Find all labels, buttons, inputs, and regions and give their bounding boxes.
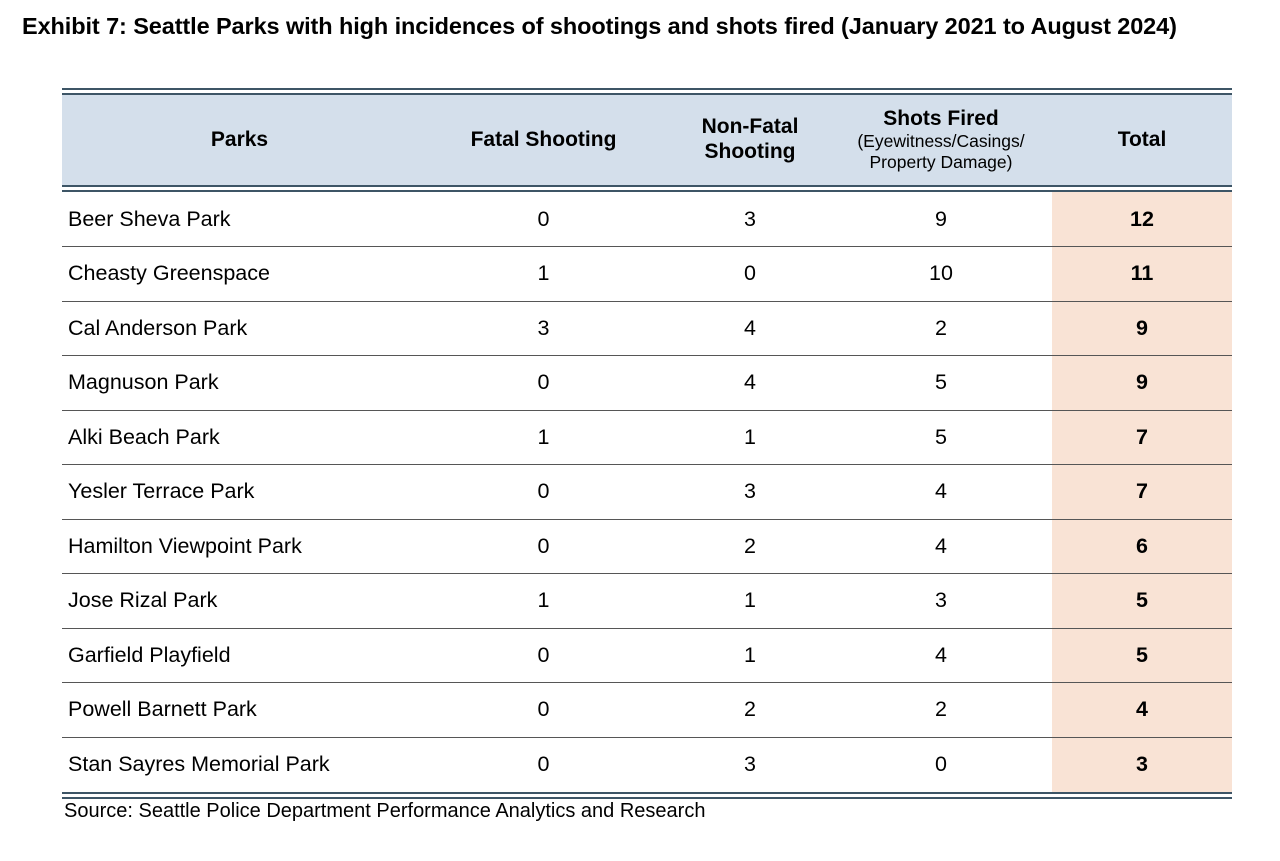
cell-non-fatal-shooting: 1	[670, 410, 830, 465]
table-row: Cal Anderson Park3429	[62, 301, 1232, 356]
cell-fatal-shooting: 1	[417, 410, 670, 465]
column-header-shots-fired: Shots Fired (Eyewitness/Casings/ Propert…	[830, 95, 1052, 185]
cell-shots-fired: 0	[830, 737, 1052, 792]
table-row: Alki Beach Park1157	[62, 410, 1232, 465]
column-header-non-fatal-line1: Non-Fatal	[674, 115, 826, 140]
column-header-total-label: Total	[1056, 128, 1228, 153]
cell-total: 12	[1052, 192, 1232, 247]
table-row: Stan Sayres Memorial Park0303	[62, 737, 1232, 792]
cell-fatal-shooting: 0	[417, 465, 670, 520]
table-row: Yesler Terrace Park0347	[62, 465, 1232, 520]
cell-non-fatal-shooting: 4	[670, 301, 830, 356]
cell-shots-fired: 5	[830, 356, 1052, 411]
cell-non-fatal-shooting: 1	[670, 628, 830, 683]
cell-park-name: Beer Sheva Park	[62, 192, 417, 247]
exhibit-page: Exhibit 7: Seattle Parks with high incid…	[0, 0, 1280, 861]
column-header-shots-fired-label: Shots Fired	[834, 107, 1048, 132]
cell-park-name: Cal Anderson Park	[62, 301, 417, 356]
cell-park-name: Alki Beach Park	[62, 410, 417, 465]
cell-fatal-shooting: 0	[417, 356, 670, 411]
cell-total: 7	[1052, 465, 1232, 520]
cell-park-name: Yesler Terrace Park	[62, 465, 417, 520]
cell-total: 5	[1052, 628, 1232, 683]
table-row: Magnuson Park0459	[62, 356, 1232, 411]
cell-fatal-shooting: 0	[417, 737, 670, 792]
cell-non-fatal-shooting: 1	[670, 574, 830, 629]
exhibit-table-container: Parks Fatal Shooting Non-Fatal Shooting …	[62, 88, 1232, 799]
cell-shots-fired: 3	[830, 574, 1052, 629]
cell-shots-fired: 4	[830, 628, 1052, 683]
source-note: Source: Seattle Police Department Perfor…	[64, 800, 705, 823]
cell-park-name: Powell Barnett Park	[62, 683, 417, 738]
cell-fatal-shooting: 3	[417, 301, 670, 356]
cell-park-name: Cheasty Greenspace	[62, 247, 417, 302]
header-bottom-rule	[62, 185, 1232, 192]
cell-total: 9	[1052, 301, 1232, 356]
table-body: Beer Sheva Park03912Cheasty Greenspace10…	[62, 192, 1232, 792]
cell-shots-fired: 9	[830, 192, 1052, 247]
table-bottom-rule	[62, 792, 1232, 799]
cell-fatal-shooting: 1	[417, 247, 670, 302]
column-header-parks: Parks	[62, 95, 417, 185]
table-row: Jose Rizal Park1135	[62, 574, 1232, 629]
cell-total: 11	[1052, 247, 1232, 302]
column-header-total: Total	[1052, 95, 1232, 185]
cell-non-fatal-shooting: 0	[670, 247, 830, 302]
table-header-row: Parks Fatal Shooting Non-Fatal Shooting …	[62, 95, 1232, 185]
cell-park-name: Stan Sayres Memorial Park	[62, 737, 417, 792]
cell-total: 9	[1052, 356, 1232, 411]
shootings-by-park-table: Parks Fatal Shooting Non-Fatal Shooting …	[62, 95, 1232, 185]
cell-non-fatal-shooting: 3	[670, 465, 830, 520]
cell-non-fatal-shooting: 3	[670, 737, 830, 792]
cell-total: 5	[1052, 574, 1232, 629]
cell-fatal-shooting: 0	[417, 683, 670, 738]
column-header-shots-fired-sub-line2: Property Damage)	[834, 152, 1048, 173]
table-row: Cheasty Greenspace101011	[62, 247, 1232, 302]
cell-shots-fired: 2	[830, 301, 1052, 356]
cell-total: 6	[1052, 519, 1232, 574]
cell-fatal-shooting: 1	[417, 574, 670, 629]
cell-shots-fired: 2	[830, 683, 1052, 738]
cell-total: 4	[1052, 683, 1232, 738]
cell-non-fatal-shooting: 2	[670, 519, 830, 574]
cell-fatal-shooting: 0	[417, 192, 670, 247]
cell-shots-fired: 10	[830, 247, 1052, 302]
shootings-by-park-table-body: Beer Sheva Park03912Cheasty Greenspace10…	[62, 192, 1232, 792]
column-header-non-fatal-shooting: Non-Fatal Shooting	[670, 95, 830, 185]
column-header-parks-label: Parks	[66, 128, 413, 153]
cell-shots-fired: 5	[830, 410, 1052, 465]
table-top-rule	[62, 88, 1232, 95]
page-title: Exhibit 7: Seattle Parks with high incid…	[22, 10, 1252, 43]
cell-park-name: Hamilton Viewpoint Park	[62, 519, 417, 574]
cell-park-name: Garfield Playfield	[62, 628, 417, 683]
table-row: Hamilton Viewpoint Park0246	[62, 519, 1232, 574]
cell-fatal-shooting: 0	[417, 519, 670, 574]
column-header-fatal-shooting-label: Fatal Shooting	[421, 128, 666, 153]
cell-total: 7	[1052, 410, 1232, 465]
cell-non-fatal-shooting: 2	[670, 683, 830, 738]
table-row: Garfield Playfield0145	[62, 628, 1232, 683]
cell-non-fatal-shooting: 3	[670, 192, 830, 247]
table-header: Parks Fatal Shooting Non-Fatal Shooting …	[62, 95, 1232, 185]
cell-fatal-shooting: 0	[417, 628, 670, 683]
cell-shots-fired: 4	[830, 465, 1052, 520]
cell-shots-fired: 4	[830, 519, 1052, 574]
column-header-non-fatal-line2: Shooting	[674, 140, 826, 165]
column-header-shots-fired-sub-line1: (Eyewitness/Casings/	[834, 131, 1048, 152]
cell-park-name: Jose Rizal Park	[62, 574, 417, 629]
table-row: Powell Barnett Park0224	[62, 683, 1232, 738]
cell-park-name: Magnuson Park	[62, 356, 417, 411]
cell-non-fatal-shooting: 4	[670, 356, 830, 411]
table-row: Beer Sheva Park03912	[62, 192, 1232, 247]
column-header-fatal-shooting: Fatal Shooting	[417, 95, 670, 185]
cell-total: 3	[1052, 737, 1232, 792]
